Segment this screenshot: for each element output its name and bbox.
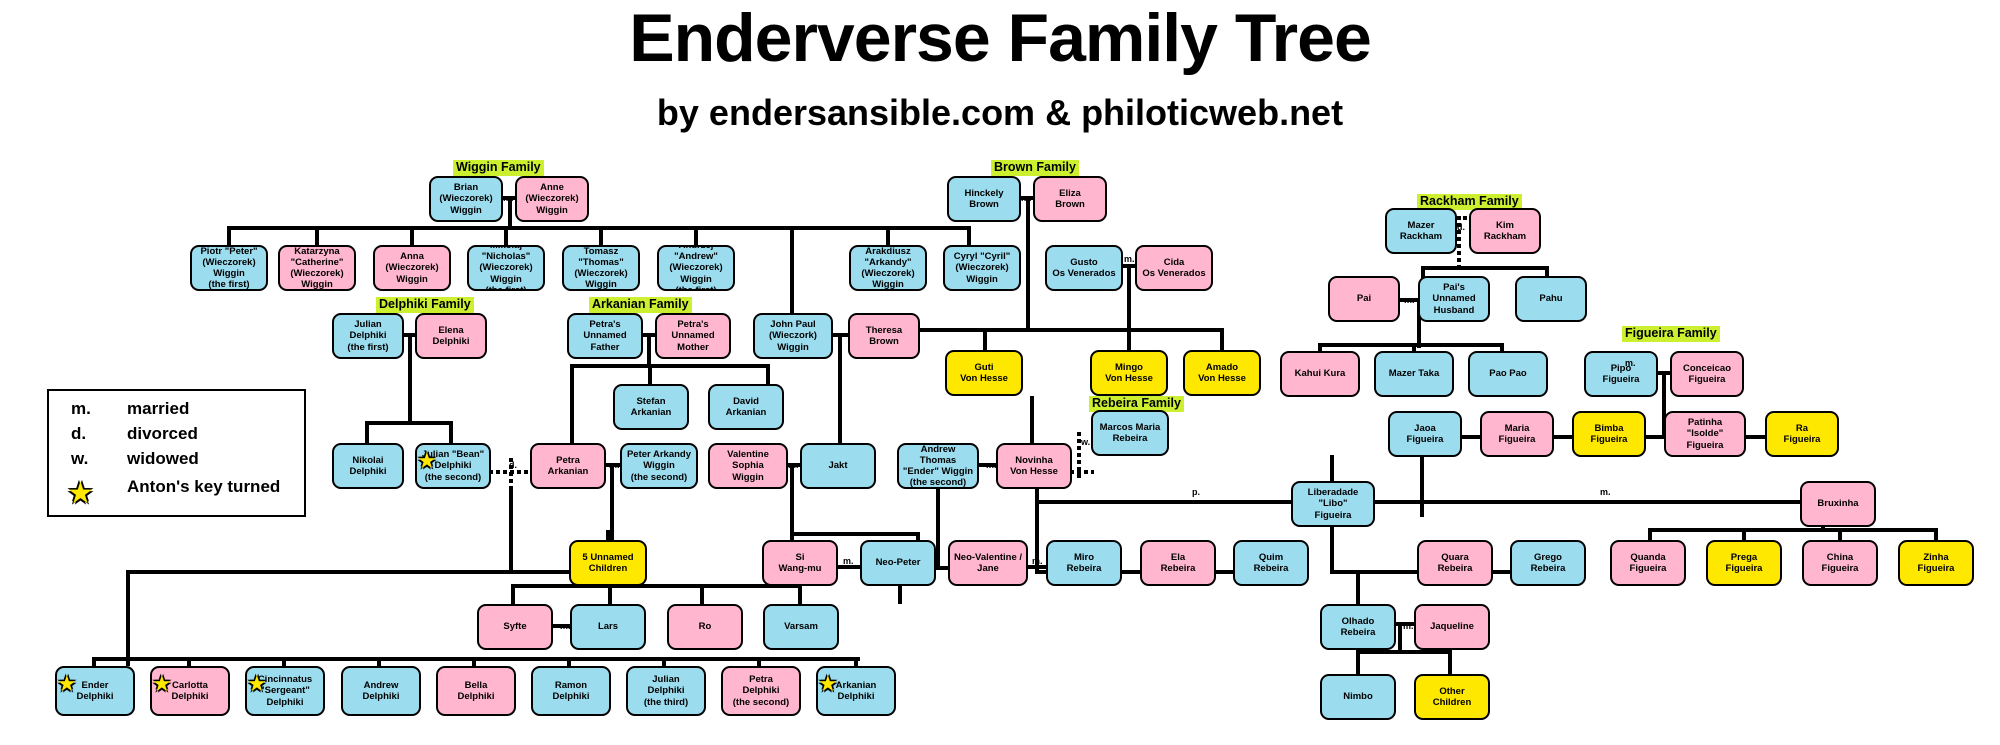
person-node-miro[interactable]: Miro Rebeira <box>1046 540 1122 586</box>
person-node-david[interactable]: David Arkanian <box>708 384 784 430</box>
person-name: Novinha Von Hesse <box>1001 455 1067 477</box>
person-name: Olhado Rebeira <box>1325 616 1391 638</box>
person-name: Patinha "Isolde" Figueira <box>1669 417 1741 451</box>
person-name: Quim Rebeira <box>1238 552 1304 574</box>
page-subtitle: by endersansible.com & philoticweb.net <box>0 92 2000 134</box>
family-label-wiggin: Wiggin Family <box>453 160 544 176</box>
relation-marker-brian-anne: m. <box>503 193 514 203</box>
person-name: Syfte <box>482 621 548 632</box>
person-name: Ender Delphiki <box>60 680 130 702</box>
person-name: Piotr "Peter" (Wieczorek) Wiggin (the fi… <box>195 246 263 291</box>
person-name: Marcos Maria Rebeira <box>1096 422 1164 444</box>
person-name: Kahui Kura <box>1285 368 1355 379</box>
person-name: Amado Von Hesse <box>1188 362 1256 384</box>
person-node-bella[interactable]: Bella Delphiki <box>436 666 516 716</box>
connector-paikids-bar <box>1318 343 1504 347</box>
person-name: Zinha Figueira <box>1903 552 1969 574</box>
person-node-marcos[interactable]: Marcos Maria Rebeira <box>1091 410 1169 456</box>
person-node-jakt[interactable]: Jakt <box>800 443 876 489</box>
connector-wiggin-d8 <box>967 226 971 247</box>
person-node-rafig[interactable]: Ra Figueira <box>1765 411 1839 457</box>
person-node-enderd[interactable]: Ender Delphiki <box>55 666 135 716</box>
person-name: Valentine Sophia Wiggin <box>713 449 783 483</box>
person-node-tomasz[interactable]: Tomasz "Thomas" (Wieczorek) Wiggin <box>562 245 640 291</box>
person-node-carlotta[interactable]: Carlotta Delphiki <box>150 666 230 716</box>
person-node-gusto[interactable]: Gusto Os Venerados <box>1045 245 1123 291</box>
page-title: Enderverse Family Tree <box>0 4 2000 73</box>
person-name: Cincinnatus "Sergeant" Delphiki <box>250 674 320 708</box>
person-name: Gusto Os Venerados <box>1050 257 1118 279</box>
connector-ark-d3 <box>766 364 770 386</box>
person-node-paihusband[interactable]: Pai's Unnamed Husband <box>1418 276 1490 322</box>
family-tree-canvas: Enderverse Family Tree by endersansible.… <box>0 0 2000 745</box>
relation-marker-pai-husband: m. <box>1404 295 1415 305</box>
relation-marker-si-neopeter: m. <box>843 556 854 566</box>
person-node-ela[interactable]: Ela Rebeira <box>1140 540 1216 586</box>
connector-ark-bar <box>570 364 770 368</box>
person-name: Petra's Unnamed Father <box>572 319 638 353</box>
connector-ol-d1 <box>1356 650 1360 676</box>
person-name: 5 Unnamed Children <box>574 552 642 574</box>
person-name: Ela Rebeira <box>1145 552 1211 574</box>
person-node-mariafig[interactable]: Maria Figueira <box>1480 411 1554 457</box>
person-node-petrad[interactable]: Petra Delphiki (the second) <box>721 666 801 716</box>
person-name: Neo-Valentine / Jane <box>953 552 1023 574</box>
person-node-jaoa[interactable]: Jaoa Figueira <box>1388 411 1462 457</box>
person-name: Pahu <box>1520 293 1582 304</box>
family-label-arkanian: Arkanian Family <box>589 297 692 313</box>
person-name: Grego Rebeira <box>1515 552 1581 574</box>
person-name: Lars <box>575 621 641 632</box>
person-name: Jakt <box>805 460 871 471</box>
person-node-neopeter[interactable]: Neo-Peter <box>860 540 936 586</box>
person-node-chinafig[interactable]: China Figueira <box>1802 540 1878 586</box>
person-name: Mazer Rackham <box>1390 220 1452 242</box>
person-node-kahui[interactable]: Kahui Kura <box>1280 351 1360 397</box>
connector-ender-stem <box>936 489 940 570</box>
legend-key-widowed: w. <box>71 449 123 469</box>
connector-novinha-stem <box>1030 396 1034 444</box>
person-node-guti[interactable]: Guti Von Hesse <box>945 350 1023 396</box>
connector-bean-petra-stem <box>509 489 513 574</box>
person-name: Julian Delphiki (the third) <box>631 674 701 708</box>
relation-marker-bean-petra: d. <box>509 460 517 470</box>
person-node-arkaniand[interactable]: Arkanian Delphiki <box>816 666 896 716</box>
person-node-prega[interactable]: Prega Figueira <box>1706 540 1782 586</box>
connector-del-stem <box>408 333 412 423</box>
person-node-bean[interactable]: Julian "Bean" Delphiki (the second) <box>415 443 491 489</box>
person-name: Andrew Thomas "Ender" Wiggin (the second… <box>902 444 974 489</box>
legend-text-divorced: divorced <box>127 424 198 444</box>
connector-bp-d0 <box>126 570 130 666</box>
person-name: Jaoa Figueira <box>1393 423 1457 445</box>
person-node-conceicao[interactable]: Conceicao Figueira <box>1670 351 1744 397</box>
person-name: Ra Figueira <box>1770 423 1834 445</box>
person-name: Theresa Brown <box>853 325 915 347</box>
person-node-peterwiggin[interactable]: Peter Arkandy Wiggin (the second) <box>620 443 698 489</box>
person-node-neovalentine[interactable]: Neo-Valentine / Jane <box>948 540 1028 586</box>
legend-box: m. married d. divorced w. widowed ★ Anto… <box>47 389 306 517</box>
person-name: David Arkanian <box>713 396 779 418</box>
connector-wiggin-d1 <box>227 226 231 247</box>
family-label-figueira: Figueira Family <box>1622 326 1720 342</box>
person-name: Julian Delphiki (the first) <box>337 319 399 353</box>
person-node-bimba[interactable]: Bimba Figueira <box>1572 411 1646 457</box>
person-name: Bimba Figueira <box>1577 423 1641 445</box>
relation-marker-olhado-jaqueline: m. <box>1403 621 1414 631</box>
person-node-nimbo[interactable]: Nimbo <box>1320 674 1396 720</box>
connector-gusto-stem <box>1127 264 1131 328</box>
connector-vh-bar <box>983 328 1223 332</box>
person-node-quara[interactable]: Quara Rebeira <box>1417 540 1493 586</box>
legend-key-married: m. <box>71 399 123 419</box>
person-node-julian1[interactable]: Julian Delphiki (the first) <box>332 313 404 359</box>
person-name: Neo-Peter <box>865 557 931 568</box>
person-node-andrewd[interactable]: Andrew Delphiki <box>341 666 421 716</box>
person-name: Brian (Wieczorek) Wiggin <box>434 182 498 216</box>
relation-marker-petra-peter: m. <box>609 460 620 470</box>
person-node-pai[interactable]: Pai <box>1328 276 1400 322</box>
dotted-connector-bean-petra-dh <box>489 470 533 474</box>
legend-text-widowed: widowed <box>127 449 199 469</box>
person-name: Cyryl "Cyril" (Wieczorek) Wiggin <box>948 251 1016 285</box>
relation-marker-pipo-conceicao: m. <box>1625 358 1636 368</box>
person-name: Quanda Figueira <box>1615 552 1681 574</box>
person-name: Elena Delphiki <box>420 325 482 347</box>
relation-marker-hinckely-eliza: m. <box>1021 193 1032 203</box>
relation-marker-jane-miro: m. <box>1032 556 1043 566</box>
star-icon: ★ <box>67 479 94 509</box>
person-node-mikolaj[interactable]: Mikolaj "Nicholas" (Wieczorek) Wiggin (t… <box>467 245 545 291</box>
relation-marker-novinha-libo: p. <box>1192 487 1200 497</box>
person-name: Other Children <box>1419 686 1485 708</box>
family-label-delphiki: Delphiki Family <box>376 297 474 313</box>
person-node-valentine[interactable]: Valentine Sophia Wiggin <box>708 443 788 489</box>
person-node-patinha[interactable]: Patinha "Isolde" Figueira <box>1664 411 1746 457</box>
dotted-connector-nov-marcos-dh <box>1070 470 1094 474</box>
person-name: Tomasz "Thomas" (Wieczorek) Wiggin <box>567 246 635 291</box>
person-node-jaqueline[interactable]: Jaqueline <box>1414 604 1490 650</box>
person-name: Arkanian Delphiki <box>821 680 891 702</box>
connector-wiggin-d5 <box>599 226 603 247</box>
person-name: Si Wang-mu <box>767 552 833 574</box>
connector-bottom-bar <box>92 657 860 661</box>
person-node-ro[interactable]: Ro <box>667 604 743 650</box>
person-name: Pai <box>1333 293 1395 304</box>
person-name: Mazer Taka <box>1379 368 1449 379</box>
person-node-mingo[interactable]: Mingo Von Hesse <box>1090 350 1168 396</box>
connector-libo-down <box>1330 527 1334 574</box>
connector-val-kids-bar <box>790 532 920 536</box>
person-name: Bruxinha <box>1805 498 1871 509</box>
person-name: Kim Rackham <box>1474 220 1536 242</box>
person-name: China Figueira <box>1807 552 1873 574</box>
person-name: Prega Figueira <box>1711 552 1777 574</box>
person-node-anne[interactable]: Anne (Wieczorek) Wiggin <box>515 176 589 222</box>
person-node-zinha[interactable]: Zinha Figueira <box>1898 540 1974 586</box>
person-node-cincinnatus[interactable]: Cincinnatus "Sergeant" Delphiki <box>245 666 325 716</box>
connector-rack-bar <box>1421 266 1549 270</box>
person-node-theresa[interactable]: Theresa Brown <box>848 313 920 359</box>
person-node-paopao[interactable]: Pao Pao <box>1468 351 1548 397</box>
connector-ark-d1 <box>570 364 574 444</box>
person-name: Stefan Arkanian <box>618 396 684 418</box>
person-node-bruxinha[interactable]: Bruxinha <box>1800 481 1876 527</box>
person-node-libo[interactable]: Liberadade "Libo" Figueira <box>1291 481 1375 527</box>
person-name: Petra Delphiki (the second) <box>726 674 796 708</box>
person-node-juliand[interactable]: Julian Delphiki (the third) <box>626 666 706 716</box>
person-node-amado[interactable]: Amado Von Hesse <box>1183 350 1261 396</box>
person-node-petramother[interactable]: Petra's Unnamed Mother <box>655 313 731 359</box>
connector-brux-kids-bar <box>1648 528 1938 532</box>
person-node-katarzyna[interactable]: Katarzyna "Catherine" (Wieczorek) Wiggin <box>278 245 356 291</box>
person-name: Jaqueline <box>1419 621 1485 632</box>
person-node-stefan[interactable]: Stefan Arkanian <box>613 384 689 430</box>
person-name: Mikolaj "Nicholas" (Wieczorek) Wiggin (t… <box>472 245 540 291</box>
person-name: Bella Delphiki <box>441 680 511 702</box>
connector-wiggin-d2 <box>315 226 319 247</box>
person-node-eliza[interactable]: Eliza Brown <box>1033 176 1107 222</box>
legend-text-antons-key: Anton's key turned <box>127 477 280 497</box>
person-node-grego[interactable]: Grego Rebeira <box>1510 540 1586 586</box>
person-name: Conceicao Figueira <box>1675 363 1739 385</box>
person-node-quim[interactable]: Quim Rebeira <box>1233 540 1309 586</box>
person-name: Petra Arkanian <box>535 455 601 477</box>
person-name: Eliza Brown <box>1038 188 1102 210</box>
connector-wiggin-d4 <box>504 226 508 247</box>
connector-ark-stem <box>647 333 651 367</box>
person-node-syfte[interactable]: Syfte <box>477 604 553 650</box>
person-name: Pai's Unnamed Husband <box>1423 282 1485 316</box>
person-name: Guti Von Hesse <box>950 362 1018 384</box>
relation-marker-gusto-cida: m. <box>1124 254 1135 264</box>
person-name: Miro Rebeira <box>1051 552 1117 574</box>
person-name: Katarzyna "Catherine" (Wieczorek) Wiggin <box>283 246 351 291</box>
connector-del-d2 <box>449 421 453 445</box>
person-node-ramon[interactable]: Ramon Delphiki <box>531 666 611 716</box>
person-node-otherchild[interactable]: Other Children <box>1414 674 1490 720</box>
person-name: Maria Figueira <box>1485 423 1549 445</box>
connector-jp-stem <box>838 333 842 445</box>
person-name: Ro <box>672 621 738 632</box>
relation-marker-valentine-jakt: m. <box>788 460 799 470</box>
relation-marker-libo-bruxinha: m. <box>1600 487 1611 497</box>
person-node-andrzej[interactable]: Andrzej "Andrew" (Wieczorek) Wiggin (the… <box>657 245 735 291</box>
person-node-arakdiusz[interactable]: Arakdiusz "Arkandy" (Wieczorek) Wiggin <box>849 245 927 291</box>
person-name: Pao Pao <box>1473 368 1543 379</box>
person-name: Varsam <box>768 621 834 632</box>
connector-wiggin-d3 <box>410 226 414 247</box>
relation-marker-novinha-marcos: w. <box>1081 437 1090 447</box>
legend-text-married: married <box>127 399 189 419</box>
connector-del-d1 <box>365 421 369 445</box>
connector-brown-stem <box>1026 196 1030 332</box>
person-name: Hinckely Brown <box>952 188 1016 210</box>
person-name: Liberadade "Libo" Figueira <box>1296 487 1370 521</box>
person-node-siwangmu[interactable]: Si Wang-mu <box>762 540 838 586</box>
person-node-varsam[interactable]: Varsam <box>763 604 839 650</box>
person-node-anna[interactable]: Anna (Wieczorek) Wiggin <box>373 245 451 291</box>
person-name: Quara Rebeira <box>1422 552 1488 574</box>
person-name: Julian "Bean" Delphiki (the second) <box>420 449 486 483</box>
person-node-piotr[interactable]: Piotr "Peter" (Wieczorek) Wiggin (the fi… <box>190 245 268 291</box>
person-name: Cida Os Venerados <box>1140 257 1208 279</box>
person-name: Mingo Von Hesse <box>1095 362 1163 384</box>
connector-bp-kids-bar2 <box>511 584 802 588</box>
person-name: Peter Arkandy Wiggin (the second) <box>625 449 693 483</box>
person-name: Carlotta Delphiki <box>155 680 225 702</box>
person-name: Andrzej "Andrew" (Wieczorek) Wiggin (the… <box>662 245 730 291</box>
person-node-olhado[interactable]: Olhado Rebeira <box>1320 604 1396 650</box>
person-node-cida[interactable]: Cida Os Venerados <box>1135 245 1213 291</box>
person-node-endwig[interactable]: Andrew Thomas "Ender" Wiggin (the second… <box>897 443 979 489</box>
person-node-petrafather[interactable]: Petra's Unnamed Father <box>567 313 643 359</box>
person-node-cyryl[interactable]: Cyryl "Cyril" (Wieczorek) Wiggin <box>943 245 1021 291</box>
person-name: Arakdiusz "Arkandy" (Wieczorek) Wiggin <box>854 246 922 291</box>
person-name: John Paul (Wieczork) Wiggin <box>758 319 828 353</box>
person-name: Anne (Wieczorek) Wiggin <box>520 182 584 216</box>
connector-olhado-bar <box>1356 650 1452 654</box>
person-node-fiveunnamed[interactable]: 5 Unnamed Children <box>569 540 647 586</box>
connector-vh-d1 <box>983 328 987 352</box>
person-node-nikolai[interactable]: Nikolai Delphiki <box>332 443 404 489</box>
family-label-brown: Brown Family <box>991 160 1079 176</box>
person-node-brian[interactable]: Brian (Wieczorek) Wiggin <box>429 176 503 222</box>
connector-ark-d2 <box>648 364 652 386</box>
person-name: Nimbo <box>1325 691 1391 702</box>
person-name: Ramon Delphiki <box>536 680 606 702</box>
connector-del-bar <box>365 421 453 425</box>
relation-marker-syfte-lars: m. <box>560 621 571 631</box>
person-name: Anna (Wieczorek) Wiggin <box>378 251 446 285</box>
connector-libo-brux <box>1375 500 1825 504</box>
person-node-johnpaul[interactable]: John Paul (Wieczork) Wiggin <box>753 313 833 359</box>
person-node-novinha[interactable]: Novinha Von Hesse <box>996 443 1072 489</box>
person-node-mazertaka[interactable]: Mazer Taka <box>1374 351 1454 397</box>
connector-vh-d2 <box>1127 328 1131 352</box>
person-node-kim[interactable]: Kim Rackham <box>1469 208 1541 254</box>
person-node-pahu[interactable]: Pahu <box>1515 276 1587 322</box>
person-name: Nikolai Delphiki <box>337 455 399 477</box>
connector-wiggin-d9 <box>790 226 794 316</box>
relation-marker-mazer-kim: d. <box>1457 222 1465 232</box>
person-node-mazer[interactable]: Mazer Rackham <box>1385 208 1457 254</box>
person-name: Petra's Unnamed Mother <box>660 319 726 353</box>
connector-libo-stem-up <box>1330 455 1334 483</box>
person-name: Andrew Delphiki <box>346 680 416 702</box>
connector-lk-d0 <box>1356 570 1360 608</box>
person-node-elena[interactable]: Elena Delphiki <box>415 313 487 359</box>
person-node-petra[interactable]: Petra Arkanian <box>530 443 606 489</box>
connector-ol-d2 <box>1448 650 1452 676</box>
relation-marker-ender-novinha: m. <box>986 460 997 470</box>
person-node-pipo[interactable]: Pipo Figueira <box>1584 351 1658 397</box>
person-name: Pipo Figueira <box>1589 363 1653 385</box>
connector-wiggin-d7 <box>886 226 890 247</box>
person-node-hinckely[interactable]: Hinckely Brown <box>947 176 1021 222</box>
connector-vh-d3 <box>1220 328 1224 352</box>
connector-wiggin-d6 <box>694 226 698 247</box>
person-node-lars[interactable]: Lars <box>570 604 646 650</box>
connector-nov-to-libo <box>1035 500 1295 504</box>
legend-key-divorced: d. <box>71 424 123 444</box>
person-node-quanda[interactable]: Quanda Figueira <box>1610 540 1686 586</box>
connector-val-jakt-stem <box>790 463 794 536</box>
